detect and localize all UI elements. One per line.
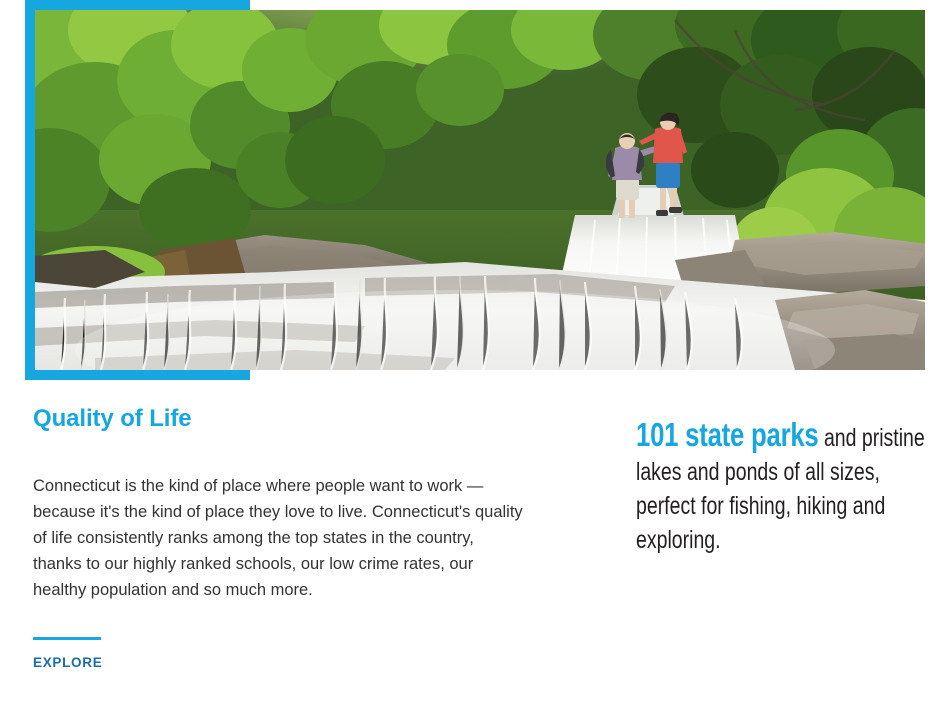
hero-section <box>0 0 950 385</box>
body-paragraph: Connecticut is the kind of place where p… <box>33 434 523 603</box>
page-title: Quality of Life <box>33 404 533 434</box>
waterfall-illustration <box>35 10 925 370</box>
accent-frame-top-bar <box>25 0 250 10</box>
explore-link[interactable]: EXPLORE <box>33 655 102 670</box>
state-parks-count-highlight: 101 state parks <box>636 416 819 453</box>
state-parks-stat: 101 state parks and pristine lakes and p… <box>636 418 926 557</box>
left-column: Quality of Life Connecticut is the kind … <box>33 404 533 672</box>
right-column: 101 state parks and pristine lakes and p… <box>636 418 926 557</box>
accent-frame-left-bar <box>25 0 35 380</box>
explore-divider-rule <box>33 637 101 640</box>
explore-link-group: EXPLORE <box>33 603 533 672</box>
content-section: Quality of Life Connecticut is the kind … <box>0 404 950 704</box>
accent-frame-bottom-bar <box>25 370 250 380</box>
waterfall-hero-photo <box>35 10 925 370</box>
